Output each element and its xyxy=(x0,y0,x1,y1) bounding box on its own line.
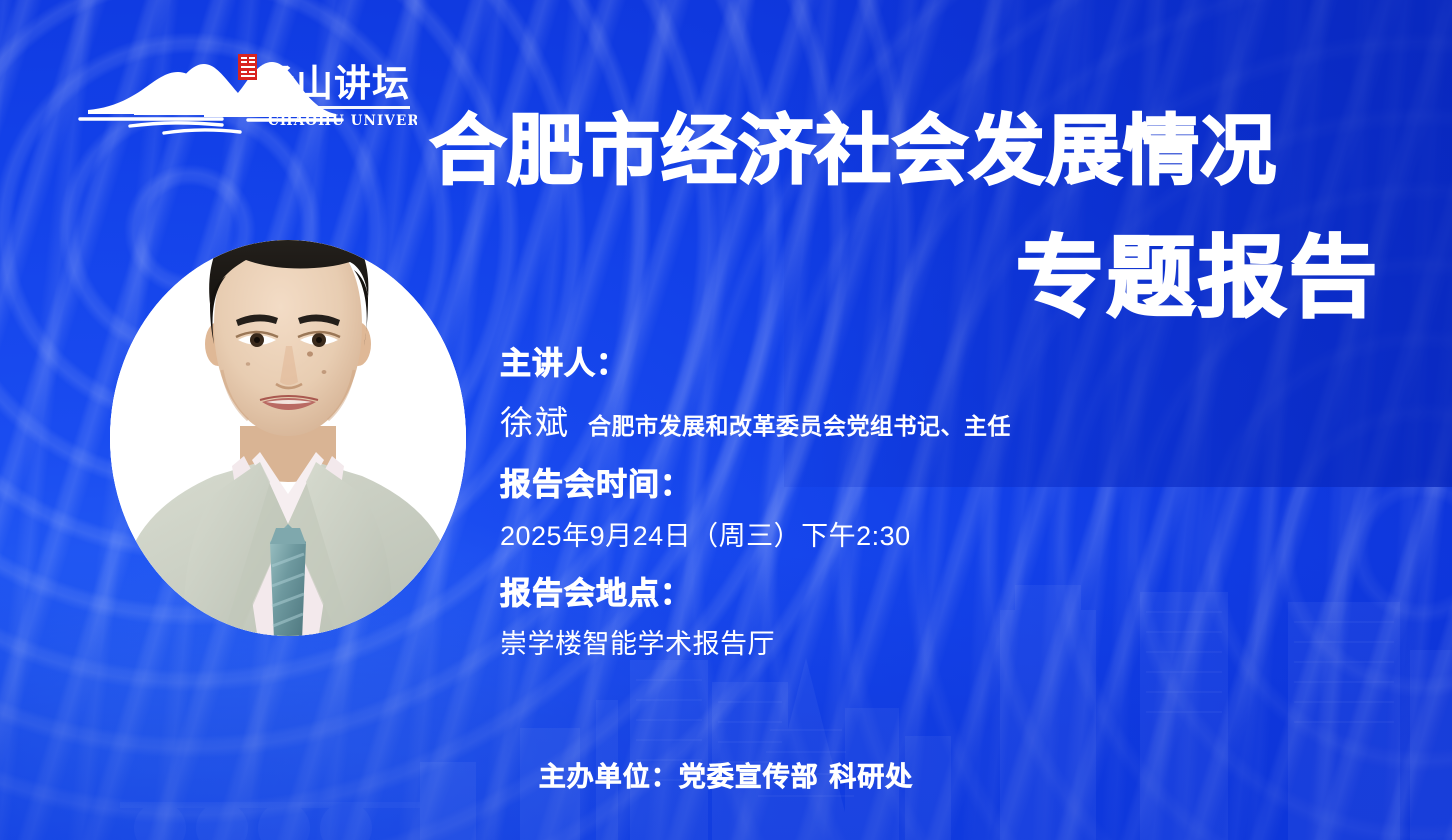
poster-title-line2: 专题报告 xyxy=(430,234,1380,322)
organizer-footer: 主办单位：党委宣传部 科研处 xyxy=(0,755,1452,794)
title-block: 合肥市经济社会发展情况 专题报告 xyxy=(430,112,1380,322)
poster-title-line1: 合肥市经济社会发展情况 xyxy=(430,112,1380,190)
venue-value: 崇学楼智能学术报告厅 xyxy=(500,622,1360,661)
speaker-position: 合肥市发展和改革委员会党组书记、主任 xyxy=(588,407,1011,441)
speaker-label: 主讲人： xyxy=(500,345,1360,384)
poster-canvas: 汤山讲坛 CHAOHU UNIVERSITY 合肥市经济社会发展情况 专题报告 xyxy=(0,0,1452,840)
speaker-row: 徐斌 合肥市发展和改革委员会党组书记、主任 xyxy=(500,396,1360,444)
time-label: 报告会时间： xyxy=(500,466,1360,505)
venue-label: 报告会地点： xyxy=(500,575,1360,614)
portrait-photo xyxy=(110,240,466,636)
tangshan-forum-logo: 汤山讲坛 CHAOHU UNIVERSITY xyxy=(72,52,417,142)
speaker-portrait xyxy=(110,240,466,636)
logo-artwork: 汤山讲坛 CHAOHU UNIVERSITY xyxy=(72,52,417,142)
time-value: 2025年9月24日（周三）下午2:30 xyxy=(500,514,1360,553)
red-seal-icon xyxy=(238,54,257,80)
portrait-circle-mask xyxy=(110,240,466,636)
speaker-name: 徐斌 xyxy=(500,396,570,444)
event-info-block: 主讲人： 徐斌 合肥市发展和改革委员会党组书记、主任 报告会时间： 2025年9… xyxy=(500,345,1360,661)
logo-cn-name: 汤山讲坛 xyxy=(258,62,410,105)
logo-en-name: CHAOHU UNIVERSITY xyxy=(268,113,417,129)
